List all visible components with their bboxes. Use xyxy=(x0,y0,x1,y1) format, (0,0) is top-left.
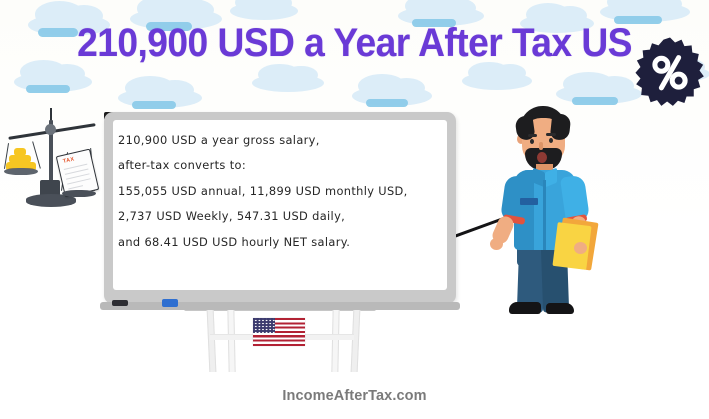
whiteboard-tray xyxy=(100,302,460,310)
shirt-pocket xyxy=(520,198,538,205)
balance-scales-icon: TAX xyxy=(2,108,112,224)
hair-side-right xyxy=(550,113,572,141)
mouth xyxy=(537,152,547,163)
shoe-left xyxy=(509,302,541,314)
whiteboard-line-2: after-tax converts to: xyxy=(118,153,446,178)
tax-document-label: TAX xyxy=(62,156,75,164)
marker-dark-icon xyxy=(112,300,128,306)
scale-pan-left xyxy=(4,168,38,175)
infographic-canvas: 210,900 USD a Year After Tax US xyxy=(0,0,709,419)
eye-right xyxy=(549,138,553,143)
hand-right xyxy=(574,242,587,254)
whiteboard: 210,900 USD a year gross salary, after-t… xyxy=(104,112,456,304)
page-title: 210,900 USD a Year After Tax US xyxy=(25,23,684,63)
cloud-shadow-icon xyxy=(26,85,70,93)
marker-blue-icon xyxy=(162,299,178,307)
whiteboard-line-5: and 68.41 USD USD hourly NET salary. xyxy=(118,230,446,255)
easel-leg xyxy=(227,309,235,372)
hand-left xyxy=(490,238,503,250)
scale-pivot xyxy=(45,124,56,135)
cloud-shadow-icon xyxy=(366,99,408,107)
whiteboard-line-4: 2,737 USD Weekly, 547.31 USD daily, xyxy=(118,204,446,229)
eyebrow-right xyxy=(546,133,556,136)
whiteboard-line-1: 210,900 USD a year gross salary, xyxy=(118,128,446,153)
teacher-character xyxy=(489,104,609,312)
cloud-shadow-icon xyxy=(132,101,176,109)
shoe-right xyxy=(546,303,574,314)
shirt-placket xyxy=(543,180,546,250)
percent-badge-icon xyxy=(634,36,706,108)
whiteboard-line-3: 155,055 USD annual, 11,899 USD monthly U… xyxy=(118,179,446,204)
scale-pan-right xyxy=(62,190,96,197)
eyebrow-left xyxy=(528,134,537,137)
whiteboard-text: 210,900 USD a year gross salary, after-t… xyxy=(118,128,446,255)
flag-canton xyxy=(253,318,275,333)
flag-stars xyxy=(253,318,275,333)
site-watermark: IncomeAfterTax.com xyxy=(0,388,709,404)
easel-leg xyxy=(331,309,339,372)
us-flag-icon xyxy=(253,318,305,346)
nose xyxy=(539,142,543,150)
eye-left xyxy=(530,139,534,144)
